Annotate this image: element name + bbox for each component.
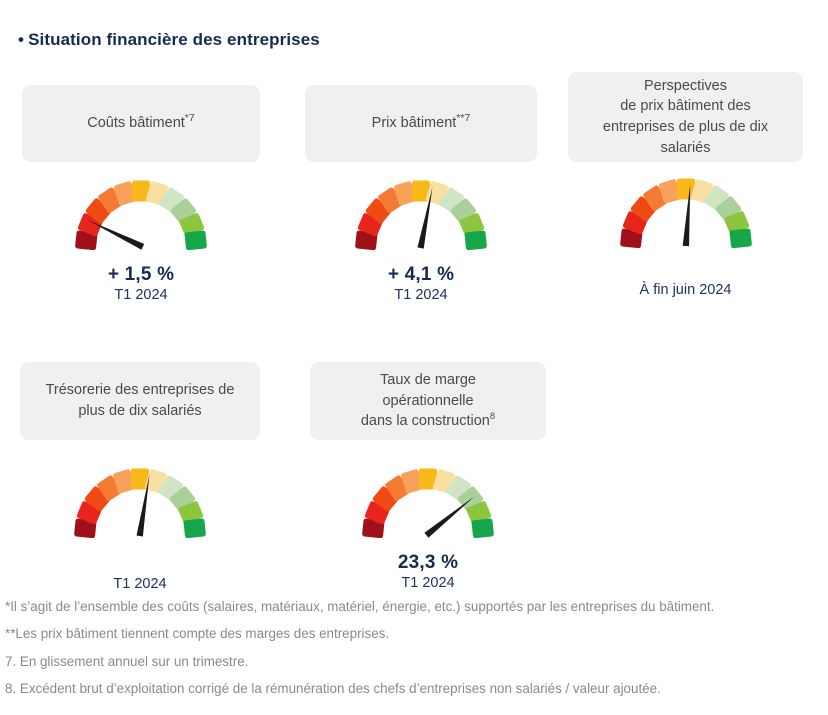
footnote-item: **Les prix bâtiment tiennent compte des … xyxy=(5,624,805,643)
gauge-card-taux-marge-operationnelle: Taux de marge opérationnelle dans la con… xyxy=(310,362,546,591)
card-header-line-text: dans la construction xyxy=(361,413,490,429)
gauge-segment xyxy=(471,518,494,538)
gauge-chart xyxy=(341,170,501,258)
card-header-line: plus de dix salariés xyxy=(46,401,235,422)
card-header-text: Coûts bâtiment*7 xyxy=(87,113,194,134)
page-title-text: Situation financière des entreprises xyxy=(28,30,320,49)
card-period: T1 2024 xyxy=(22,287,260,303)
gauge-container xyxy=(22,170,260,258)
gauge-chart xyxy=(606,168,766,256)
gauge-chart xyxy=(61,170,221,258)
card-header-line: Prix bâtiment xyxy=(372,115,457,131)
gauge-card-perspectives-prix-batiment: Perspectives de prix bâtiment des entrep… xyxy=(568,72,803,298)
card-period: T1 2024 xyxy=(305,287,537,303)
card-header-line: Perspectives xyxy=(603,76,768,97)
card-header: Taux de marge opérationnelle dans la con… xyxy=(310,362,546,440)
gauge-chart xyxy=(348,458,508,546)
card-value: 23,3 % xyxy=(310,552,546,574)
card-header-line: Taux de marge xyxy=(361,370,495,391)
card-header-text: Taux de marge opérationnelle dans la con… xyxy=(361,370,495,432)
card-header-line: de prix bâtiment des xyxy=(603,96,768,117)
gauge-card-tresorerie-entreprises: Trésorerie des entreprises de plus de di… xyxy=(20,362,260,592)
card-header-line: entreprises de plus de dix xyxy=(603,117,768,138)
card-header-marker: **7 xyxy=(456,112,470,124)
gauge-card-prix-batiment: Prix bâtiment**7 + 4,1 % T1 2024 xyxy=(305,85,537,303)
footnote-item: *Il s’agit de l’ensemble des coûts (sala… xyxy=(5,597,805,616)
gauge-chart xyxy=(60,458,220,546)
page-title: •Situation financière des entreprises xyxy=(18,30,320,50)
gauge-container xyxy=(310,458,546,546)
card-value: + 1,5 % xyxy=(22,264,260,286)
gauge-segment xyxy=(184,230,207,250)
card-header-text: Trésorerie des entreprises de plus de di… xyxy=(46,380,235,421)
card-period: T1 2024 xyxy=(310,575,546,591)
gauge-segment xyxy=(183,518,206,538)
card-period: T1 2024 xyxy=(20,576,260,592)
gauge-segment xyxy=(464,230,487,250)
card-header-text: Prix bâtiment**7 xyxy=(372,113,471,134)
bullet-icon: • xyxy=(18,31,24,48)
card-header-line: Trésorerie des entreprises de xyxy=(46,380,235,401)
card-header: Coûts bâtiment*7 xyxy=(22,85,260,162)
gauge-card-couts-batiment: Coûts bâtiment*7 + 1,5 % T1 2024 xyxy=(22,85,260,303)
gauge-container xyxy=(305,170,537,258)
card-period: À fin juin 2024 xyxy=(568,282,803,298)
card-header-line: opérationnelle xyxy=(361,391,495,412)
gauge-container xyxy=(20,458,260,546)
card-header-text: Perspectives de prix bâtiment des entrep… xyxy=(603,76,768,158)
card-header-line: dans la construction8 xyxy=(361,411,495,432)
gauge-container xyxy=(568,168,803,256)
card-header-marker: *7 xyxy=(185,112,195,124)
card-value: + 4,1 % xyxy=(305,264,537,286)
card-header: Trésorerie des entreprises de plus de di… xyxy=(20,362,260,440)
card-header-line: salariés xyxy=(603,138,768,159)
footnote-item: 7. En glissement annuel sur un trimestre… xyxy=(5,652,805,671)
gauge-segment xyxy=(729,228,752,248)
card-header-line: Coûts bâtiment xyxy=(87,115,185,131)
footnote-item: 8. Excédent brut d’exploitation corrigé … xyxy=(5,679,805,698)
card-header-marker: 8 xyxy=(490,411,495,422)
footnotes: *Il s’agit de l’ensemble des coûts (sala… xyxy=(5,597,805,699)
card-header: Perspectives de prix bâtiment des entrep… xyxy=(568,72,803,162)
card-header: Prix bâtiment**7 xyxy=(305,85,537,162)
